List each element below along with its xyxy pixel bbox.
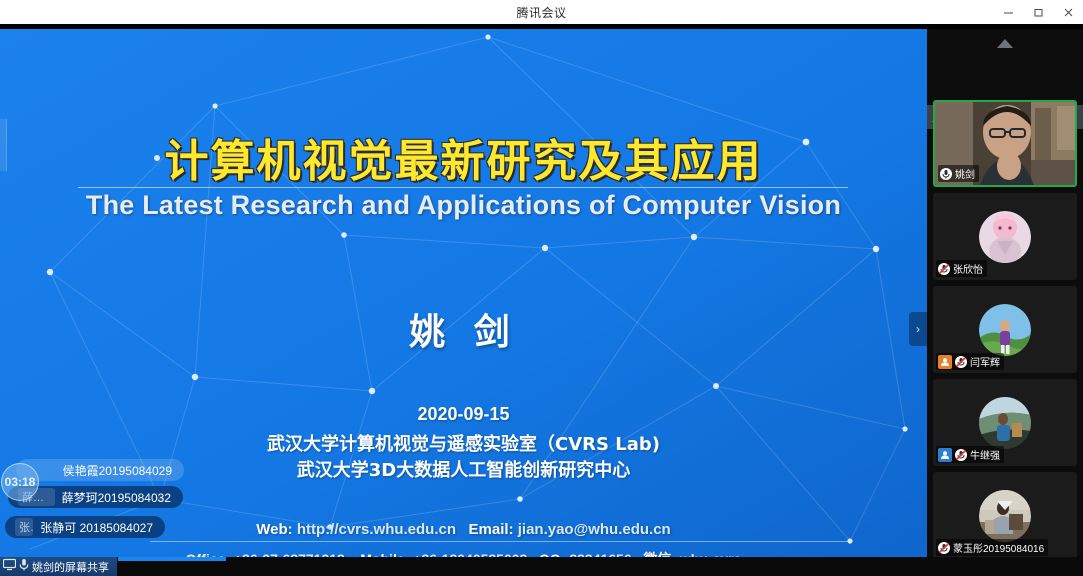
email-value: jian.yao@whu.edu.cn (518, 521, 671, 538)
participant-name-chip: 蒙玉彤20195084016 (936, 539, 1048, 556)
mic-muted-icon (955, 356, 967, 368)
participant-name: 张欣怡 (953, 261, 983, 276)
participant-name: 姚剑 (955, 166, 975, 181)
triangle-up-icon (997, 39, 1013, 48)
join-toast: 侯艳霞20195084029 (16, 459, 184, 481)
mic-muted-icon (955, 449, 967, 461)
participant-tile[interactable]: 牛继强 (933, 379, 1077, 466)
participant-tile[interactable]: 蒙玉彤20195084016 (933, 472, 1077, 559)
shared-screen-slide: 计算机视觉最新研究及其应用 The Latest Research and Ap… (0, 29, 927, 557)
email-label: Email: (469, 521, 514, 538)
web-label: Web: (256, 521, 292, 538)
tencent-meeting-window: 腾讯会议 (0, 0, 1083, 576)
taskbar-item-label: 姚剑的屏幕共享 (32, 559, 109, 575)
avatar (979, 304, 1031, 356)
participant-tile[interactable]: 闫军辉 (933, 286, 1077, 373)
panel-collapse-chevron-icon[interactable]: › (909, 312, 927, 346)
participant-name-chip: 张欣怡 (936, 260, 987, 277)
participant-panel: 正在讲话: 姚剑 (927, 29, 1083, 557)
join-toast-message: 薛梦珂20195084032 (62, 489, 171, 506)
participant-name-chip: 牛继强 (936, 446, 1004, 463)
join-toast: 张静可 张静可 20185084027 (5, 516, 165, 538)
slide-organization-line-1: 武汉大学计算机视觉与遥感实验室（CVRS Lab) (0, 430, 927, 456)
join-toast-chip: 张静可 (15, 518, 33, 536)
window-titlebar: 腾讯会议 (0, 0, 1083, 24)
participant-name-chip: 闫军辉 (936, 353, 1004, 370)
slide-contact-phone-line: Office: +86-27-68771218 Mobile: +86-1804… (0, 549, 927, 557)
mic-muted-icon (938, 542, 950, 554)
avatar (979, 211, 1031, 263)
slide-title-chinese: 计算机视觉最新研究及其应用 (0, 125, 927, 189)
slide-title-english: The Latest Research and Applications of … (0, 190, 927, 221)
window-title: 腾讯会议 (516, 4, 566, 21)
mic-icon (19, 558, 29, 576)
participant-scroll-down-button[interactable] (927, 495, 1083, 515)
taskbar-item-screen-share[interactable]: 姚剑的屏幕共享 (0, 557, 118, 576)
slide-speaker-name: 姚 剑 (0, 303, 927, 355)
meeting-timer-badge[interactable]: 03:18 (1, 463, 39, 501)
join-toast-message: 侯艳霞20195084029 (63, 462, 172, 479)
participant-tile[interactable]: 姚剑 (933, 100, 1077, 187)
window-controls (993, 0, 1083, 24)
participant-name: 闫军辉 (970, 354, 1000, 369)
participant-tile[interactable]: 张欣怡 (933, 193, 1077, 280)
os-taskbar: 姚剑的屏幕共享 (0, 557, 1083, 576)
participant-scroll-up-button[interactable] (927, 33, 1083, 53)
title-divider (78, 187, 848, 188)
close-button[interactable] (1053, 0, 1083, 24)
slide-date: 2020-09-15 (0, 404, 927, 425)
participant-name: 蒙玉彤20195084016 (953, 540, 1044, 555)
mic-muted-icon (938, 263, 950, 275)
avatar (979, 397, 1031, 449)
monitor-icon (3, 558, 16, 576)
participant-name: 牛继强 (970, 447, 1000, 462)
join-toast-message: 张静可 20185084027 (40, 519, 153, 536)
host-badge-icon (938, 448, 952, 462)
contact-divider (150, 541, 850, 542)
mic-on-icon (940, 168, 952, 180)
triangle-down-icon (997, 501, 1013, 510)
web-value: http://cvrs.whu.edu.cn (297, 521, 456, 538)
maximize-button[interactable] (1023, 0, 1053, 24)
minimize-button[interactable] (993, 0, 1023, 24)
participant-name-chip: 姚剑 (938, 165, 979, 182)
host-badge-icon (938, 355, 952, 369)
